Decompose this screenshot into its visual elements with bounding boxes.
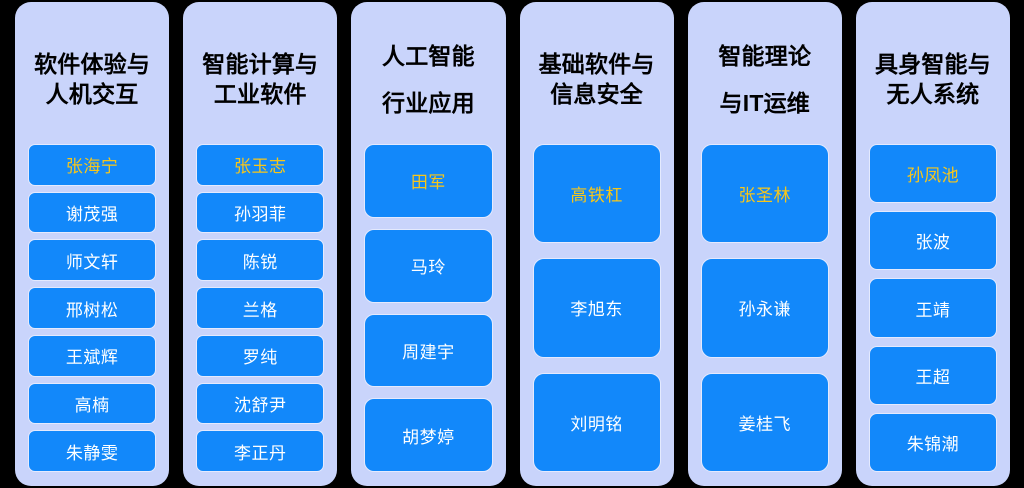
column-title-line: 无人系统	[887, 80, 980, 110]
member-chip[interactable]: 沈舒尹	[196, 383, 324, 425]
member-chip[interactable]: 罗纯	[196, 335, 324, 377]
member-chip-lead[interactable]: 张玉志	[196, 144, 324, 186]
column-title: 人工智能行业应用	[364, 12, 492, 144]
column-title-line: 行业应用	[382, 80, 475, 127]
column-title-line: 人工智能	[382, 33, 475, 80]
research-direction-column: 基础软件与信息安全高铁杠李旭东刘明铭	[520, 2, 674, 486]
member-chip[interactable]: 孙羽菲	[196, 192, 324, 234]
member-chip-lead[interactable]: 张圣林	[701, 144, 829, 243]
member-chip[interactable]: 刘明铭	[533, 373, 661, 472]
member-chip-lead[interactable]: 高铁杠	[533, 144, 661, 243]
member-list: 张海宁谢茂强师文轩邢树松王斌辉高楠朱静雯	[28, 144, 156, 472]
research-direction-column: 具身智能与无人系统孙凤池张波王靖王超朱锦潮	[856, 2, 1010, 486]
member-chip[interactable]: 周建宇	[364, 314, 492, 388]
column-title-line: 工业软件	[214, 80, 307, 110]
member-chip[interactable]: 李旭东	[533, 258, 661, 357]
column-title: 基础软件与信息安全	[533, 12, 661, 144]
research-direction-column: 智能计算与工业软件张玉志孙羽菲陈锐兰格罗纯沈舒尹李正丹	[183, 2, 337, 486]
research-direction-column: 智能理论与IT运维张圣林孙永谦姜桂飞	[688, 2, 842, 486]
member-chip[interactable]: 王斌辉	[28, 335, 156, 377]
column-title-line: 人机交互	[46, 80, 139, 110]
member-chip[interactable]: 朱锦潮	[869, 413, 997, 472]
column-title-line: 具身智能与	[875, 50, 991, 80]
column-title-line: 信息安全	[550, 80, 643, 110]
member-list: 高铁杠李旭东刘明铭	[533, 144, 661, 472]
member-chip[interactable]: 陈锐	[196, 239, 324, 281]
column-title: 软件体验与人机交互	[28, 12, 156, 144]
member-list: 田军马玲周建宇胡梦婷	[364, 144, 492, 472]
member-chip[interactable]: 朱静雯	[28, 430, 156, 472]
column-title-line: 软件体验与	[34, 50, 150, 80]
research-group-board: 软件体验与人机交互张海宁谢茂强师文轩邢树松王斌辉高楠朱静雯智能计算与工业软件张玉…	[0, 0, 1024, 488]
member-chip[interactable]: 胡梦婷	[364, 398, 492, 472]
member-list: 张玉志孙羽菲陈锐兰格罗纯沈舒尹李正丹	[196, 144, 324, 472]
member-chip[interactable]: 师文轩	[28, 239, 156, 281]
member-chip[interactable]: 兰格	[196, 287, 324, 329]
member-chip[interactable]: 邢树松	[28, 287, 156, 329]
member-chip[interactable]: 王靖	[869, 278, 997, 337]
member-chip[interactable]: 马玲	[364, 229, 492, 303]
member-chip[interactable]: 张波	[869, 211, 997, 270]
column-title: 智能理论与IT运维	[701, 12, 829, 144]
member-chip[interactable]: 李正丹	[196, 430, 324, 472]
member-chip[interactable]: 王超	[869, 346, 997, 405]
column-title: 具身智能与无人系统	[869, 12, 997, 144]
member-list: 孙凤池张波王靖王超朱锦潮	[869, 144, 997, 472]
member-chip[interactable]: 谢茂强	[28, 192, 156, 234]
research-direction-column: 软件体验与人机交互张海宁谢茂强师文轩邢树松王斌辉高楠朱静雯	[15, 2, 169, 486]
column-title-line: 智能计算与	[202, 50, 318, 80]
member-chip-lead[interactable]: 田军	[364, 144, 492, 218]
column-title-line: 与IT运维	[720, 80, 810, 127]
member-chip[interactable]: 姜桂飞	[701, 373, 829, 472]
member-chip-lead[interactable]: 张海宁	[28, 144, 156, 186]
member-chip-lead[interactable]: 孙凤池	[869, 144, 997, 203]
column-title-line: 智能理论	[718, 33, 811, 80]
research-direction-column: 人工智能行业应用田军马玲周建宇胡梦婷	[351, 2, 505, 486]
member-list: 张圣林孙永谦姜桂飞	[701, 144, 829, 472]
member-chip[interactable]: 孙永谦	[701, 258, 829, 357]
column-title: 智能计算与工业软件	[196, 12, 324, 144]
column-title-line: 基础软件与	[539, 50, 655, 80]
member-chip[interactable]: 高楠	[28, 383, 156, 425]
